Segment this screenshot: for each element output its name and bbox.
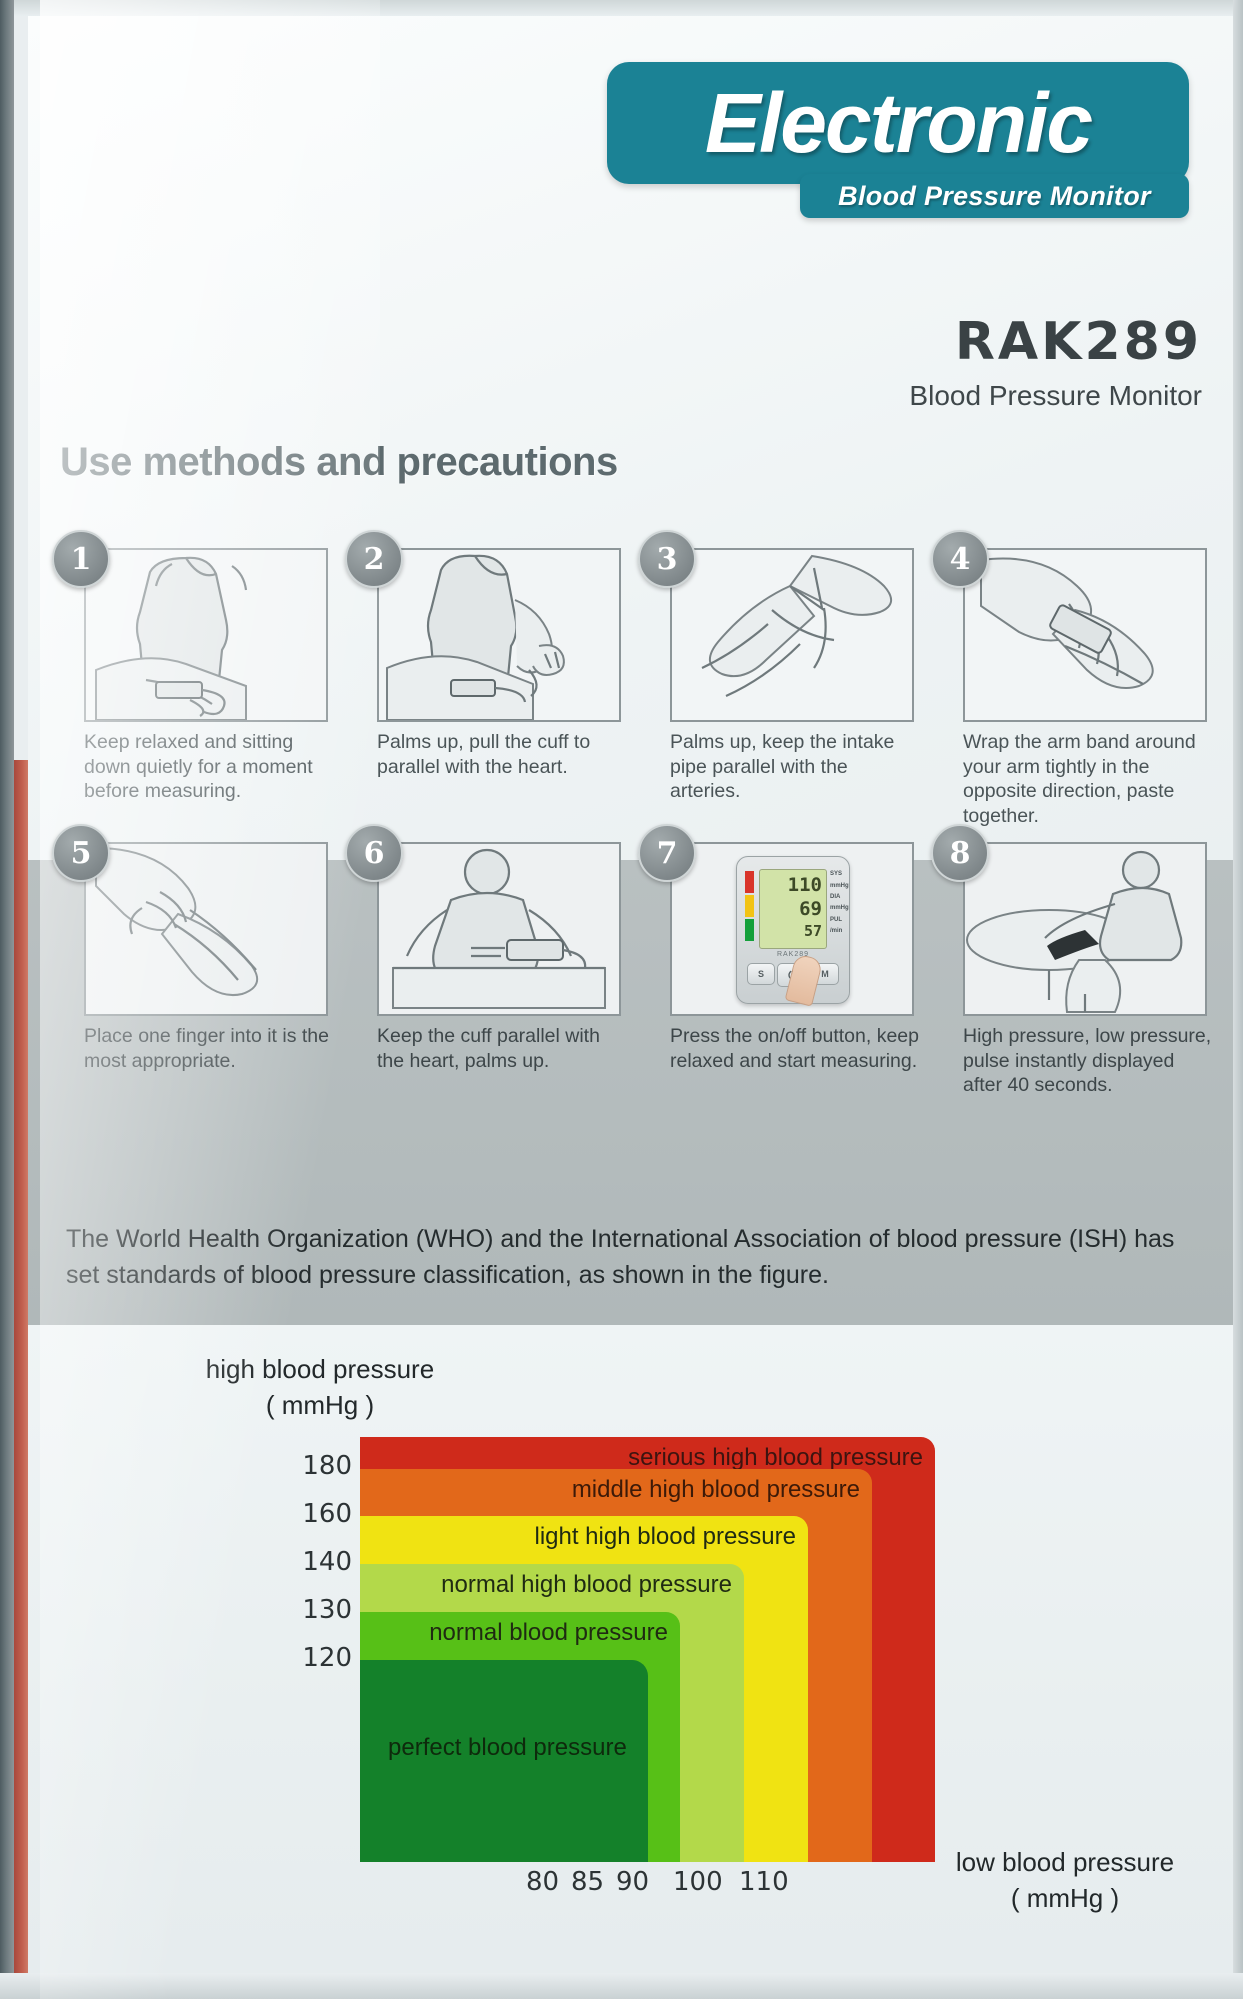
- step-8-caption: High pressure, low pressure, pulse insta…: [963, 1024, 1213, 1098]
- step-5-caption: Place one finger into it is the most app…: [84, 1024, 334, 1073]
- step-4-illustration: [963, 548, 1207, 722]
- step-number-badge: 1: [52, 530, 110, 588]
- y-tick-180: 180: [302, 1451, 352, 1481]
- logo-subtitle: Blood Pressure Monitor: [800, 174, 1189, 218]
- x-tick-80: 80: [526, 1867, 559, 1897]
- chart-x-axis-label: low blood pressure ( mmHg ): [955, 1845, 1175, 1917]
- step-6: 6 Keep the cuff parallel with the h: [345, 842, 620, 1098]
- lcd-unit-labels: SYS mmHg DIA mmHg PUL /min: [830, 869, 846, 937]
- model-subtitle: Blood Pressure Monitor: [700, 380, 1202, 412]
- x-tick-100: 100: [673, 1867, 723, 1897]
- step-2-caption: Palms up, pull the cuff to parallel with…: [377, 730, 627, 779]
- x-tick-110: 110: [739, 1867, 789, 1897]
- band-label-serious-high: serious high blood pressure: [628, 1444, 923, 1472]
- device-brand-text: RAK289: [737, 951, 849, 958]
- step-number-badge: 4: [931, 530, 989, 588]
- step-3: 3 Palms up, keep the intake pipe paralle…: [638, 548, 913, 828]
- band-label-perfect: perfect blood pressure: [388, 1734, 636, 1762]
- x-axis-ticks: 80 85 90 100 110: [360, 1867, 935, 1907]
- step-5: 5 Place one finger into it is the most a…: [52, 842, 327, 1098]
- step-7-caption: Press the on/off button, keep relaxed an…: [670, 1024, 920, 1073]
- band-label-middle-high: middle high blood pressure: [572, 1476, 860, 1504]
- lcd-screen: 110 69 57: [759, 869, 827, 949]
- step-5-illustration: [84, 842, 328, 1016]
- box-top-edge: [0, 0, 1243, 16]
- lcd-pul-value: 57: [804, 922, 822, 940]
- step-7-illustration: 110 69 57 SYS mmHg DIA mmHg PUL /min RAK…: [670, 842, 914, 1016]
- product-box-photo: Electronic Blood Pressure Monitor RAK289…: [0, 0, 1243, 1999]
- who-note: The World Health Organization (WHO) and …: [66, 1222, 1186, 1293]
- x-tick-85: 85: [571, 1867, 604, 1897]
- step-4: 4 Wrap the arm band around your arm tigh…: [931, 548, 1206, 828]
- box-left-edge: [0, 0, 14, 1999]
- step-3-illustration: [670, 548, 914, 722]
- model-number: RAK289: [770, 312, 1202, 372]
- y-axis-label-line1: high blood pressure: [205, 1352, 435, 1388]
- lcd-sys-label: SYS mmHg: [830, 869, 846, 892]
- y-tick-140: 140: [302, 1547, 352, 1577]
- step-number-badge: 7: [638, 824, 696, 882]
- box-right-edge: [1233, 0, 1243, 1999]
- step-4-caption: Wrap the arm band around your arm tightl…: [963, 730, 1213, 828]
- box-bottom-edge: [0, 1973, 1243, 1999]
- x-axis-label-line2: ( mmHg ): [955, 1881, 1175, 1917]
- step-number-badge: 3: [638, 530, 696, 588]
- bp-classification-chart: serious high blood pressure middle high …: [360, 1437, 935, 1862]
- y-axis-label-line2: ( mmHg ): [205, 1388, 435, 1424]
- lcd-pul-label: PUL /min: [830, 915, 846, 938]
- brand-logo: Electronic Blood Pressure Monitor: [607, 62, 1202, 242]
- step-6-illustration: [377, 842, 621, 1016]
- lcd-sys-value: 110: [788, 874, 822, 896]
- logo-wordmark: Electronic: [607, 62, 1189, 184]
- step-1-caption: Keep relaxed and sitting down quietly fo…: [84, 730, 334, 804]
- step-number-badge: 2: [345, 530, 403, 588]
- lcd-dia-label: DIA mmHg: [830, 892, 846, 915]
- lcd-dia-value: 69: [799, 898, 822, 920]
- band-label-light-high: light high blood pressure: [534, 1523, 796, 1551]
- step-8-illustration: [963, 842, 1207, 1016]
- step-7: 7 110 69 57 SY: [638, 842, 913, 1098]
- step-number-badge: 8: [931, 824, 989, 882]
- step-2: 2 Palms up, pull the cuff to parall: [345, 548, 620, 828]
- box-left-red-edge: [14, 760, 28, 1999]
- steps-row-1: 1 Keep relaxed and sitting down qui: [52, 548, 1212, 828]
- step-6-caption: Keep the cuff parallel with the heart, p…: [377, 1024, 627, 1073]
- x-tick-90: 90: [616, 1867, 649, 1897]
- y-axis-ticks: 180 160 140 130 120: [290, 1437, 352, 1862]
- s-button[interactable]: S: [747, 963, 775, 985]
- step-3-caption: Palms up, keep the intake pipe parallel …: [670, 730, 920, 804]
- instruction-steps: 1 Keep relaxed and sitting down qui: [52, 548, 1212, 1098]
- y-tick-120: 120: [302, 1643, 352, 1673]
- step-number-badge: 5: [52, 824, 110, 882]
- step-number-badge: 6: [345, 824, 403, 882]
- y-tick-130: 130: [302, 1595, 352, 1625]
- chart-y-axis-label: high blood pressure ( mmHg ): [205, 1352, 435, 1424]
- x-axis-label-line1: low blood pressure: [955, 1845, 1175, 1881]
- section-title: Use methods and precautions: [60, 440, 618, 485]
- risk-indicator-bars: [745, 871, 754, 943]
- y-tick-160: 160: [302, 1499, 352, 1529]
- step-1-illustration: [84, 548, 328, 722]
- band-label-normal: normal blood pressure: [429, 1619, 668, 1647]
- band-perfect: perfect blood pressure: [360, 1660, 648, 1862]
- step-8: 8 High pressure, low pressure, pulse ins…: [931, 842, 1206, 1098]
- band-label-normal-high: normal high blood pressure: [441, 1571, 732, 1599]
- steps-row-2: 5 Place one finger into it is the most a…: [52, 842, 1212, 1098]
- step-2-illustration: [377, 548, 621, 722]
- step-1: 1 Keep relaxed and sitting down qui: [52, 548, 327, 828]
